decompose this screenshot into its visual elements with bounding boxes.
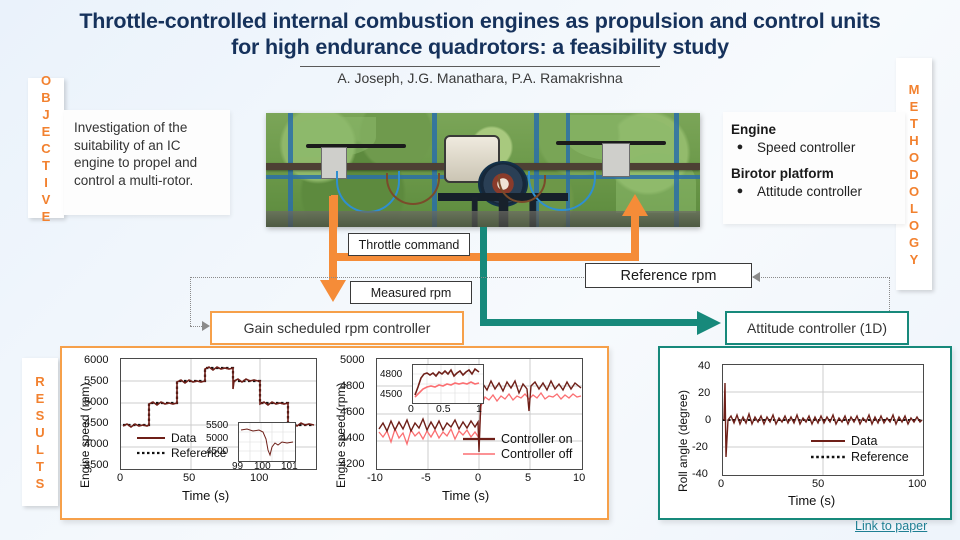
chart3-ytick: 0 [705, 414, 711, 426]
methodology-heading-engine: Engine [731, 122, 907, 137]
tab-methodology-letter: T [910, 115, 918, 132]
teal-arrow-shaft-horizontal [480, 319, 701, 326]
tab-methodology-letter: H [909, 132, 918, 149]
methodology-bullet-text: Attitude controller [749, 183, 862, 200]
chart2-xtick: -10 [367, 472, 383, 484]
chart2-inset-xtick: 0.5 [436, 403, 451, 415]
chart1-inset-ytick: 5500 [206, 420, 228, 431]
chart1-ytick: 5000 [84, 396, 108, 408]
photo-window-mullion [288, 113, 293, 227]
chart1-inset-plot [238, 422, 296, 462]
chart1-ytick: 5500 [84, 375, 108, 387]
block-attitude-controller[interactable]: Attitude controller (1D) [725, 311, 909, 345]
feedback-dotted-top-right [750, 277, 890, 278]
chart2-inset: 4800 4500 0 0.5 1 [380, 364, 502, 416]
methodology-bullet-speed-controller: ● Speed controller [731, 139, 907, 156]
results-panel-right: Roll angle (degree) 40 20 0 -20 -40 [658, 346, 952, 520]
label-reference-rpm: Reference rpm [585, 263, 752, 288]
photo-window-mullion [674, 113, 679, 227]
bullet-dot-icon: ● [731, 183, 749, 200]
label-throttle-command: Throttle command [348, 233, 470, 256]
tab-methodology-letter: L [910, 200, 918, 217]
block-gain-scheduled-rpm-controller[interactable]: Gain scheduled rpm controller [210, 311, 464, 345]
chart3-ytick: 40 [698, 360, 710, 372]
chart3-svg: Data Reference [723, 365, 923, 475]
tab-results-letter: T [36, 458, 44, 475]
tab-objective-letter: E [42, 208, 51, 225]
feedback-dotted-top-left [190, 277, 586, 278]
teal-arrow-shaft-vertical [480, 227, 487, 323]
tab-results-letter: U [35, 424, 44, 441]
tab-objective-letter: T [42, 157, 50, 174]
results-panel-left: Engine speed (rpm) 6000 5500 5000 4500 4… [60, 346, 609, 520]
bullet-dot-icon: ● [731, 139, 749, 156]
chart2-inset-plot [412, 364, 484, 404]
title-line-1: Throttle-controlled internal combustion … [30, 8, 930, 34]
orange-arrowhead-down [320, 280, 346, 302]
svg-text:Data: Data [171, 431, 197, 445]
tab-methodology-letter: E [910, 98, 919, 115]
chart1-xtick: 0 [117, 472, 123, 484]
chart3-ylabel: Roll angle (degree) [676, 390, 690, 492]
methodology-bullet-text: Speed controller [749, 139, 855, 156]
tab-results[interactable]: RESULTS [22, 358, 58, 506]
tab-results-letter: R [35, 373, 44, 390]
chart3-ytick: -40 [692, 468, 708, 480]
methodology-heading-birotor: Birotor platform [731, 166, 907, 181]
tab-methodology-letter: O [909, 149, 919, 166]
chart3-xtick: 100 [908, 478, 926, 490]
orange-arrow-shaft-right [631, 215, 639, 261]
tab-objective-letter: J [42, 106, 49, 123]
chart2-ytick: 4600 [340, 406, 364, 418]
feedback-dotted-right-vertical [889, 277, 890, 311]
tab-results-letter: L [36, 441, 44, 458]
chart1-inset-xtick: 100 [254, 461, 271, 472]
chart2-ytick: 4400 [340, 432, 364, 444]
title-underline [300, 66, 660, 67]
chart2-inset-xtick: 0 [408, 403, 414, 415]
poster-slide: Throttle-controlled internal combustion … [0, 0, 960, 540]
teal-arrowhead-right [697, 311, 721, 335]
chart3-ytick: -20 [692, 441, 708, 453]
feedback-dotted-left-vertical [190, 277, 191, 326]
chart1-inset: 5500 5000 4500 99 100 101 [206, 420, 316, 468]
feedback-arrowhead-rpm [202, 321, 210, 331]
photo-window-mullion [432, 113, 437, 227]
tab-methodology-letter: M [909, 81, 920, 98]
chart1-xtick: 100 [250, 472, 268, 484]
tab-methodology-letter: Y [910, 251, 919, 268]
chart2-ytick: 4200 [340, 458, 364, 470]
tab-results-letter: S [36, 407, 45, 424]
chart2-xtick: 0 [475, 472, 481, 484]
link-to-paper[interactable]: Link to paper [855, 519, 927, 533]
tab-results-letter: E [36, 390, 45, 407]
tab-methodology-letter: O [909, 183, 919, 200]
chart-controller-on-off: Engine speed (rpm) 5000 4800 4600 4400 4… [320, 348, 605, 514]
chart2-xlabel: Time (s) [442, 488, 489, 503]
chart2-ytick: 4800 [340, 380, 364, 392]
chart2-ytick: 5000 [340, 354, 364, 366]
feedback-arrowhead-reference [752, 272, 760, 282]
chart1-inset-xtick: 99 [232, 461, 243, 472]
chart1-inset-xtick: 101 [281, 461, 298, 472]
author-list: A. Joseph, J.G. Manathara, P.A. Ramakris… [180, 70, 780, 86]
orange-arrow-into-photo-left [331, 195, 338, 227]
chart2-inset-ytick: 4800 [380, 369, 402, 380]
chart3-plot-area: Data Reference [722, 364, 924, 476]
tab-objective-letter: I [44, 174, 48, 191]
chart1-xtick: 50 [183, 472, 195, 484]
chart-engine-speed-steps: Engine speed (rpm) 6000 5500 5000 4500 4… [62, 348, 334, 514]
chart1-inset-ytick: 5000 [206, 433, 228, 444]
chart3-ytick: 20 [698, 387, 710, 399]
chart1-xlabel: Time (s) [182, 488, 229, 503]
chart1-ytick: 4500 [84, 417, 108, 429]
tab-results-letter: S [36, 475, 45, 492]
tab-objective-letter: E [42, 123, 51, 140]
chart1-ytick: 3500 [84, 459, 108, 471]
chart2-inset-ytick: 4500 [380, 389, 402, 400]
svg-text:Controller off: Controller off [501, 447, 573, 461]
chart3-xtick: 0 [718, 478, 724, 490]
chart1-inset-ytick: 4500 [206, 446, 228, 457]
orange-arrowhead-up [622, 194, 648, 216]
tab-objective-letter: V [42, 191, 51, 208]
chart3-xtick: 50 [812, 478, 824, 490]
page-title: Throttle-controlled internal combustion … [30, 8, 930, 60]
chart2-xtick: 10 [573, 472, 585, 484]
chart-roll-angle: Roll angle (degree) 40 20 0 -20 -40 [660, 348, 946, 514]
chart1-ytick: 4000 [84, 438, 108, 450]
svg-text:Reference: Reference [851, 450, 909, 464]
svg-text:Controller on: Controller on [501, 432, 573, 446]
methodology-bullet-attitude-controller: ● Attitude controller [731, 183, 907, 200]
tab-objective-letter: B [41, 89, 50, 106]
tab-objective-letter: C [41, 140, 50, 157]
svg-text:Data: Data [851, 434, 877, 448]
chart3-xlabel: Time (s) [788, 493, 835, 508]
title-line-2: for high endurance quadrotors: a feasibi… [30, 34, 930, 60]
label-measured-rpm: Measured rpm [350, 281, 472, 304]
tab-objective-letter: O [41, 72, 51, 89]
tab-methodology-letter: G [909, 234, 919, 251]
methodology-panel: Engine ● Speed controller Birotor platfo… [723, 112, 905, 224]
chart1-ytick: 6000 [84, 354, 108, 366]
chart2-inset-xtick: 1 [476, 403, 482, 415]
tab-methodology-letter: O [909, 217, 919, 234]
chart2-xtick: 5 [525, 472, 531, 484]
tab-objective[interactable]: OBJECTIVE [28, 78, 64, 218]
tab-methodology-letter: D [909, 166, 918, 183]
chart2-xtick: -5 [421, 472, 431, 484]
objective-panel: Investigation of the suitability of an I… [64, 110, 230, 215]
photo-motor-right [602, 143, 630, 177]
objective-text: Investigation of the suitability of an I… [74, 119, 222, 189]
